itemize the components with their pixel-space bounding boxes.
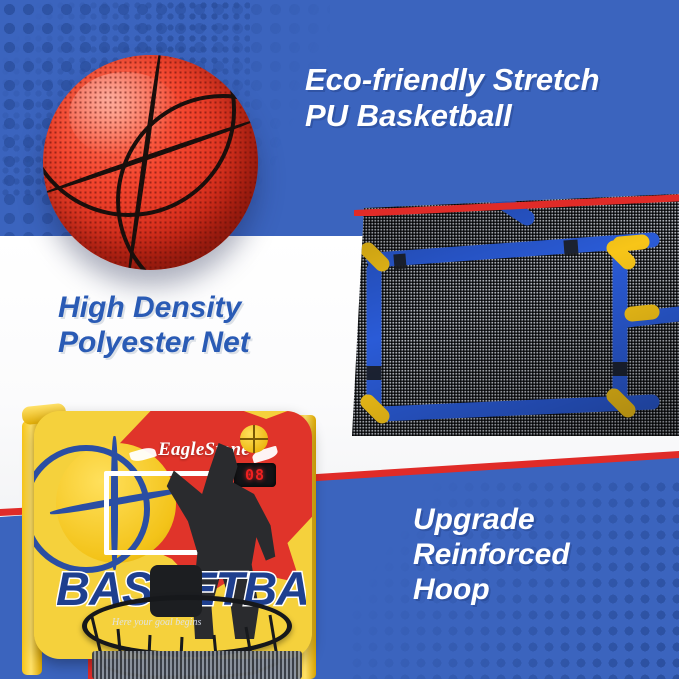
hoop-base-mesh <box>92 651 302 679</box>
graphic-seam <box>253 425 255 453</box>
feature-headline-eco: Eco-friendly Stretch PU Basketball <box>305 62 675 134</box>
scoreboard-value: 08 <box>245 466 265 484</box>
net-photo-shading <box>352 178 679 436</box>
photo-red-basketball <box>43 55 258 270</box>
backboard-small-ball-graphic <box>240 425 268 453</box>
feature-headline-net: High Density Polyester Net <box>58 291 388 361</box>
feature-headline-hoop: Upgrade Reinforced Hoop <box>413 503 663 607</box>
photo-polyester-net <box>352 178 679 436</box>
basketball-rim <box>82 595 292 657</box>
photo-hoop-assembly: EagleStone 08 BASKETBALL Here your goal … <box>22 405 352 679</box>
infographic-canvas: EagleStone 08 BASKETBALL Here your goal … <box>0 0 679 679</box>
scoreboard-display[interactable]: 08 <box>234 463 276 487</box>
